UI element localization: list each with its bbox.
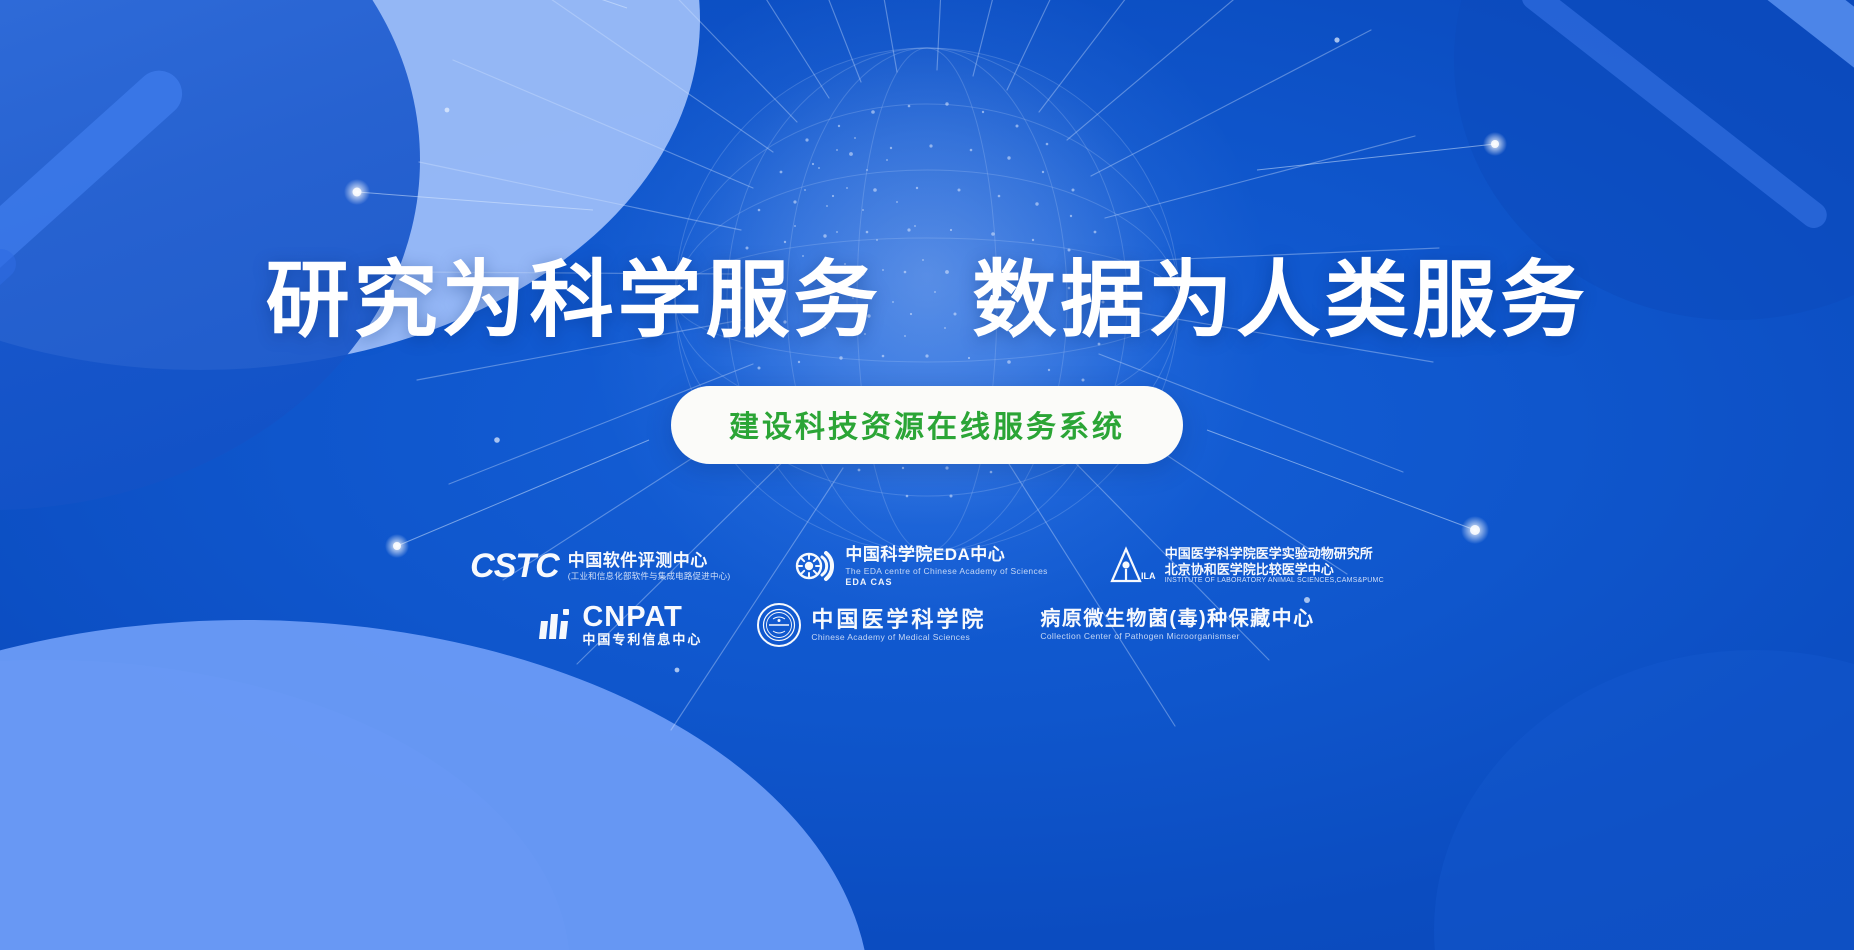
headline-left: 研究为科学服务 bbox=[266, 253, 882, 347]
ilas-name-en: INSTITUTE OF LABORATORY ANIMAL SCIENCES,… bbox=[1165, 577, 1384, 586]
cnpat-bars-icon bbox=[539, 609, 573, 641]
eda-cas-tag: EDA CAS bbox=[845, 577, 1047, 587]
cstc-name-cn: 中国软件评测中心 bbox=[568, 551, 731, 571]
pathogen-name-cn: 病原微生物菌(毒)种保藏中心 bbox=[1040, 607, 1314, 631]
hero-content: 研究为科学服务 数据为人类服务 建设科技资源在线服务系统 CSTC 中国软件评测… bbox=[0, 0, 1854, 950]
cnpat-name-cn: 中国专利信息中心 bbox=[582, 632, 702, 647]
partner-logo-ilas[interactable]: ILAS 中国医学科学院医学实验动物研究所 北京协和医学院比较医学中心 INST… bbox=[1110, 545, 1384, 587]
eda-cas-name-en: The EDA centre of Chinese Academy of Sci… bbox=[845, 566, 1047, 577]
partner-logo-cstc[interactable]: CSTC 中国软件评测中心 (工业和信息化部软件与集成电路促进中心) bbox=[470, 549, 730, 583]
page-title: 研究为科学服务 数据为人类服务 bbox=[266, 258, 1589, 342]
ilas-name-cn-line2: 北京协和医学院比较医学中心 bbox=[1165, 562, 1384, 577]
ilas-name-cn-line1: 中国医学科学院医学实验动物研究所 bbox=[1165, 546, 1384, 561]
cams-name-cn: 中国医学科学院 bbox=[811, 607, 986, 632]
partner-logo-cams[interactable]: 中国医学科学院 Chinese Academy of Medical Scien… bbox=[756, 602, 986, 648]
partner-logo-pathogen-collection[interactable]: 病原微生物菌(毒)种保藏中心 Collection Center of Path… bbox=[1040, 607, 1314, 642]
partner-logo-eda-cas[interactable]: 中国科学院EDA中心 The EDA centre of Chinese Aca… bbox=[792, 544, 1047, 588]
cstc-wordmark: CSTC bbox=[470, 549, 559, 583]
hero-banner: 研究为科学服务 数据为人类服务 建设科技资源在线服务系统 CSTC 中国软件评测… bbox=[0, 0, 1854, 950]
subtitle-pill-button[interactable]: 建设科技资源在线服务系统 bbox=[671, 386, 1183, 464]
eda-cas-emblem-icon bbox=[792, 544, 836, 588]
cstc-name-cn-sub: (工业和信息化部软件与集成电路促进中心) bbox=[568, 571, 731, 582]
cnpat-wordmark: CNPAT bbox=[582, 603, 702, 632]
partner-logo-row-1: CSTC 中国软件评测中心 (工业和信息化部软件与集成电路促进中心) bbox=[470, 544, 1384, 588]
cams-name-en: Chinese Academy of Medical Sciences bbox=[811, 632, 986, 643]
cams-seal-icon bbox=[756, 602, 802, 648]
pathogen-name-en: Collection Center of Pathogen Microorgan… bbox=[1040, 631, 1314, 642]
ilas-emblem-icon: ILAS bbox=[1110, 545, 1156, 587]
partner-logos: CSTC 中国软件评测中心 (工业和信息化部软件与集成电路促进中心) bbox=[470, 544, 1384, 648]
eda-cas-name-cn: 中国科学院EDA中心 bbox=[845, 545, 1047, 565]
partner-logo-cnpat[interactable]: CNPAT 中国专利信息中心 bbox=[539, 603, 702, 647]
partner-logo-row-2: CNPAT 中国专利信息中心 bbox=[539, 602, 1314, 648]
ilas-mark-text: ILAS bbox=[1141, 571, 1156, 581]
headline-right: 数据为人类服务 bbox=[972, 253, 1588, 347]
